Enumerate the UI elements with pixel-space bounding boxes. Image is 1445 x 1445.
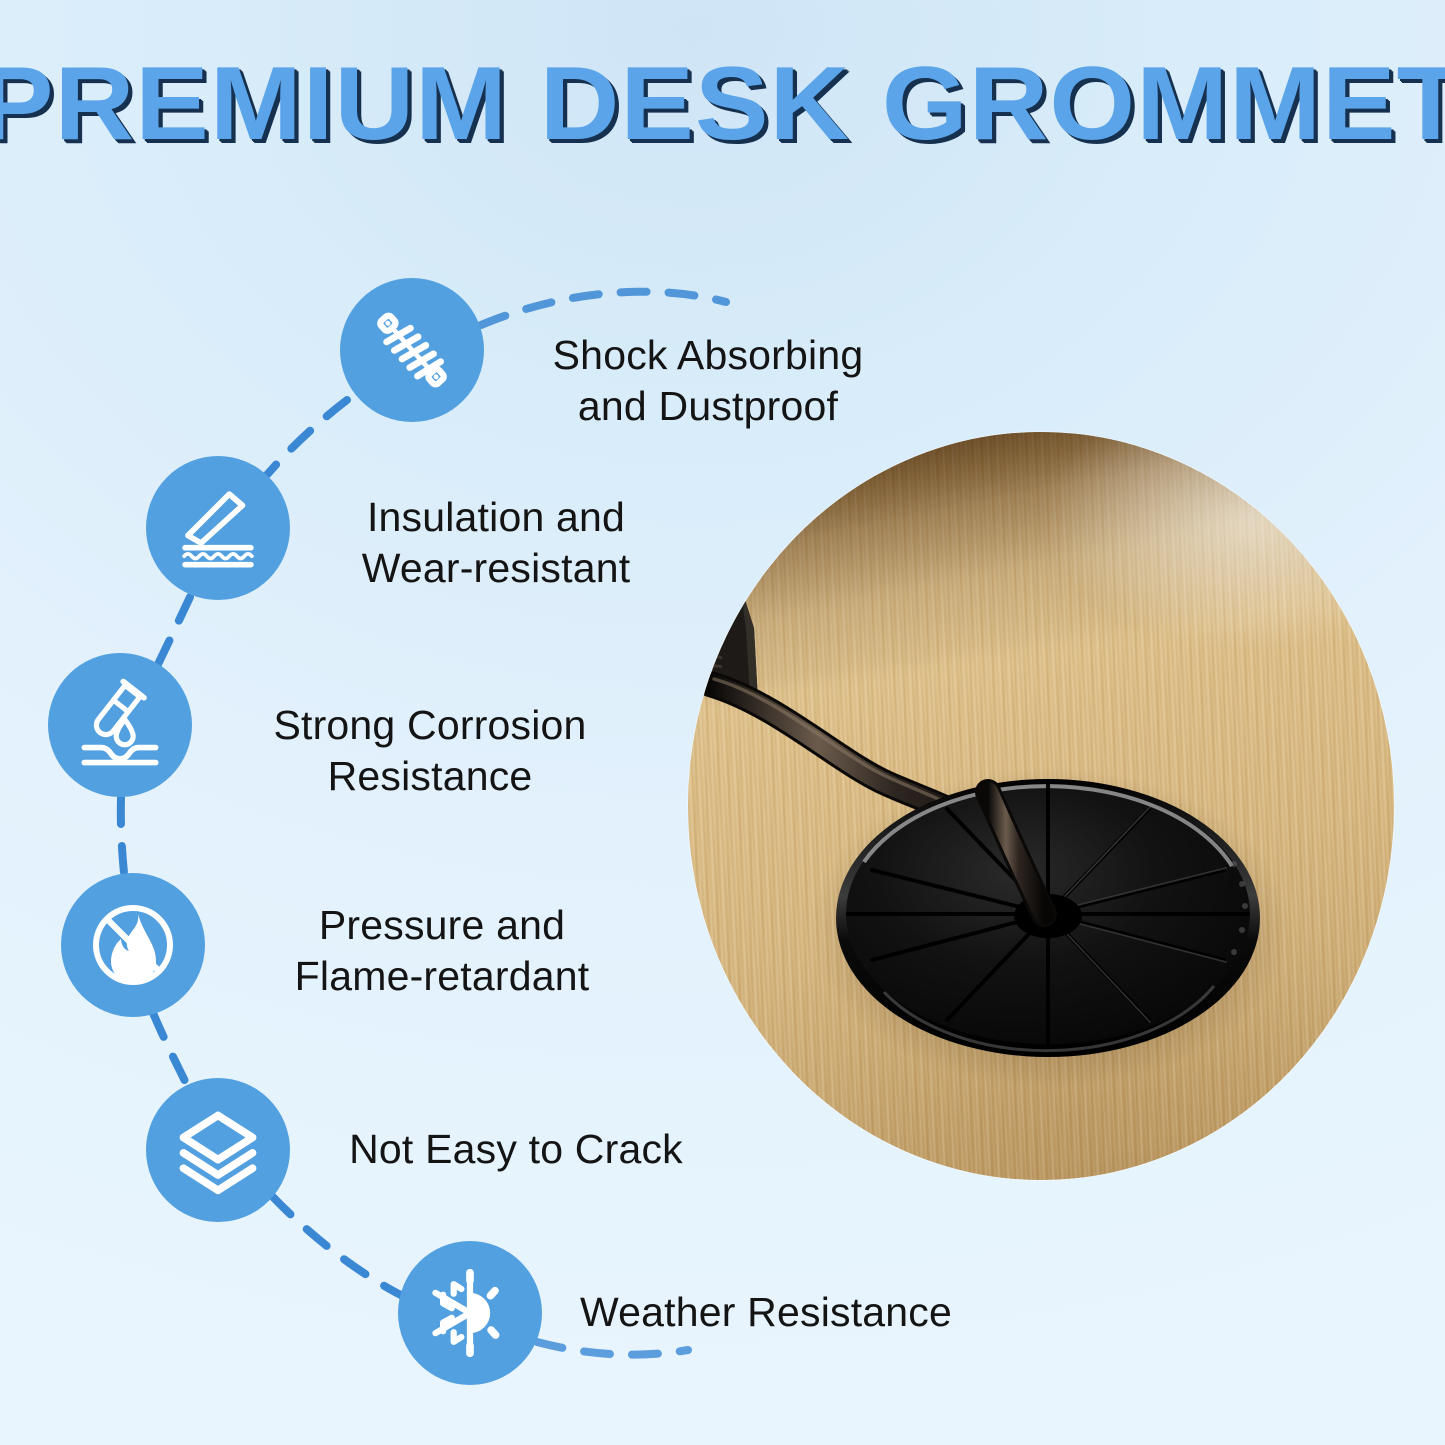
feature-icon-circle [61, 873, 205, 1017]
test-tube-drop-icon [73, 678, 167, 772]
grommet-and-cable [688, 432, 1394, 1180]
no-flame-icon [83, 895, 183, 995]
feature-icon-circle [48, 653, 192, 797]
blade-on-layer-icon [171, 481, 265, 575]
snowflake-sun-icon [422, 1265, 518, 1361]
feature-label: Pressure and Flame-retardant [252, 900, 632, 1002]
feature-label: Insulation and Wear-resistant [286, 492, 706, 594]
feature-label: Weather Resistance [556, 1287, 976, 1338]
feature-label: Strong Corrosion Resistance [228, 700, 632, 802]
infographic-canvas: PREMIUM DESK GROMMET [0, 0, 1445, 1445]
page-title: PREMIUM DESK GROMMET [0, 52, 1445, 156]
desk-grommet-photo [688, 432, 1394, 1180]
feature-icon-circle [146, 1078, 290, 1222]
feature-label: Not Easy to Crack [306, 1124, 726, 1175]
feature-icon-circle [398, 1241, 542, 1385]
stacked-layers-icon [170, 1102, 266, 1198]
feature-icon-circle [340, 278, 484, 422]
feature-icon-circle [146, 456, 290, 600]
shock-absorber-icon [364, 302, 460, 398]
feature-label: Shock Absorbing and Dustproof [508, 330, 908, 432]
